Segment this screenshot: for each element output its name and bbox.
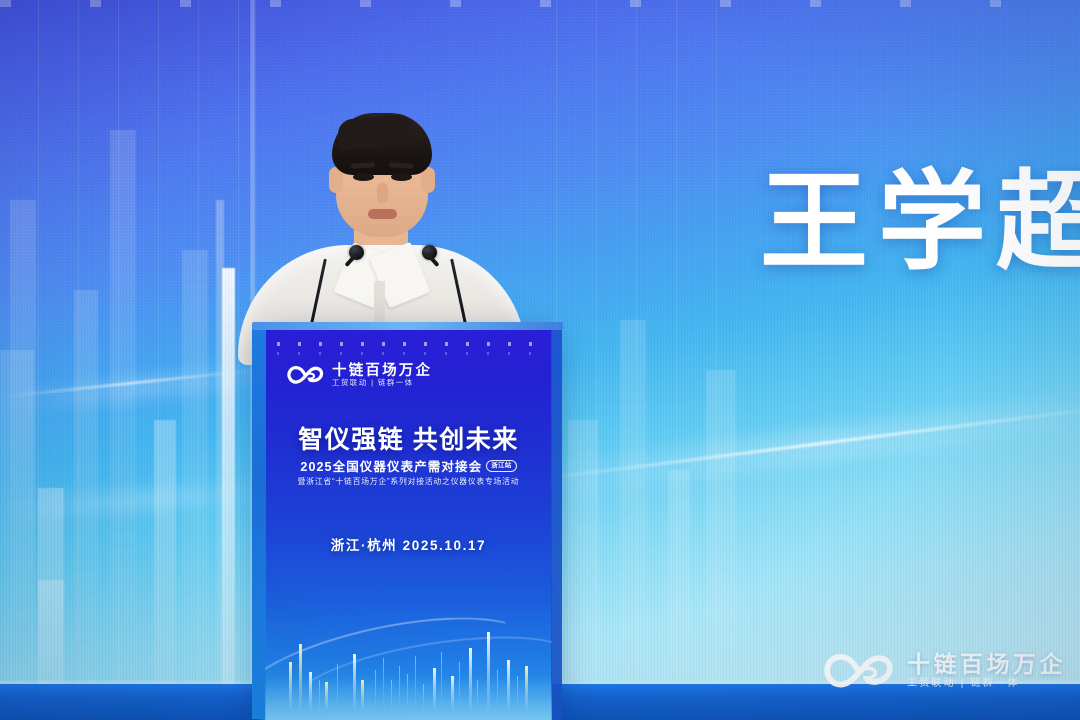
presenter-nose <box>377 183 388 203</box>
event-subtitle-secondary: 暨浙江省“十链百场万企”系列对接活动之仪器仪表专场活动 <box>265 476 552 487</box>
event-title: 智仪强链 共创未来 <box>265 420 552 456</box>
watermark-tagline: 工贸联动 | 链群一体 <box>907 679 1066 689</box>
event-region-badge: 浙江站 <box>486 460 516 472</box>
presenter-figure <box>250 105 510 350</box>
watermark-name: 十链百场万企 <box>907 653 1066 676</box>
presenter-mouth <box>368 209 397 219</box>
podium-base-glow <box>265 676 552 720</box>
watermark-logo: 十链百场万企 工贸联动 | 链群一体 <box>819 646 1066 696</box>
podium-right-edge <box>551 329 562 720</box>
backdrop-top-dot-strip <box>0 0 1080 7</box>
podium-dot-strip <box>277 342 540 346</box>
podium-dot-strip-secondary <box>277 352 540 355</box>
podium-logo-tagline: 工贸联动 | 链群一体 <box>332 379 432 387</box>
event-subtitle-row: 2025全国仪器仪表产需对接会 浙江站 <box>265 456 552 475</box>
speaker-name-caption: 王学超 <box>760 168 1080 276</box>
presenter-eye-right <box>391 173 412 181</box>
event-location-date: 浙江·杭州 2025.10.17 <box>265 534 552 554</box>
podium-logo-name: 十链百场万企 <box>332 364 432 379</box>
presenter-eye-left <box>353 173 374 181</box>
stage-photo: 王学超 <box>0 0 1080 720</box>
podium-top-surface <box>252 322 563 330</box>
event-subtitle: 2025全国仪器仪表产需对接会 <box>300 456 482 475</box>
podium-left-edge <box>252 327 266 720</box>
infinity-ribbon-icon-watermark <box>819 646 897 696</box>
podium-logo: 十链百场万企 工贸联动 | 链群一体 <box>285 362 432 388</box>
infinity-ribbon-icon <box>285 362 325 388</box>
podium-base-artwork <box>265 605 552 720</box>
podium: 十链百场万企 工贸联动 | 链群一体 智仪强链 共创未来 2025全国仪器仪表产… <box>265 328 552 720</box>
